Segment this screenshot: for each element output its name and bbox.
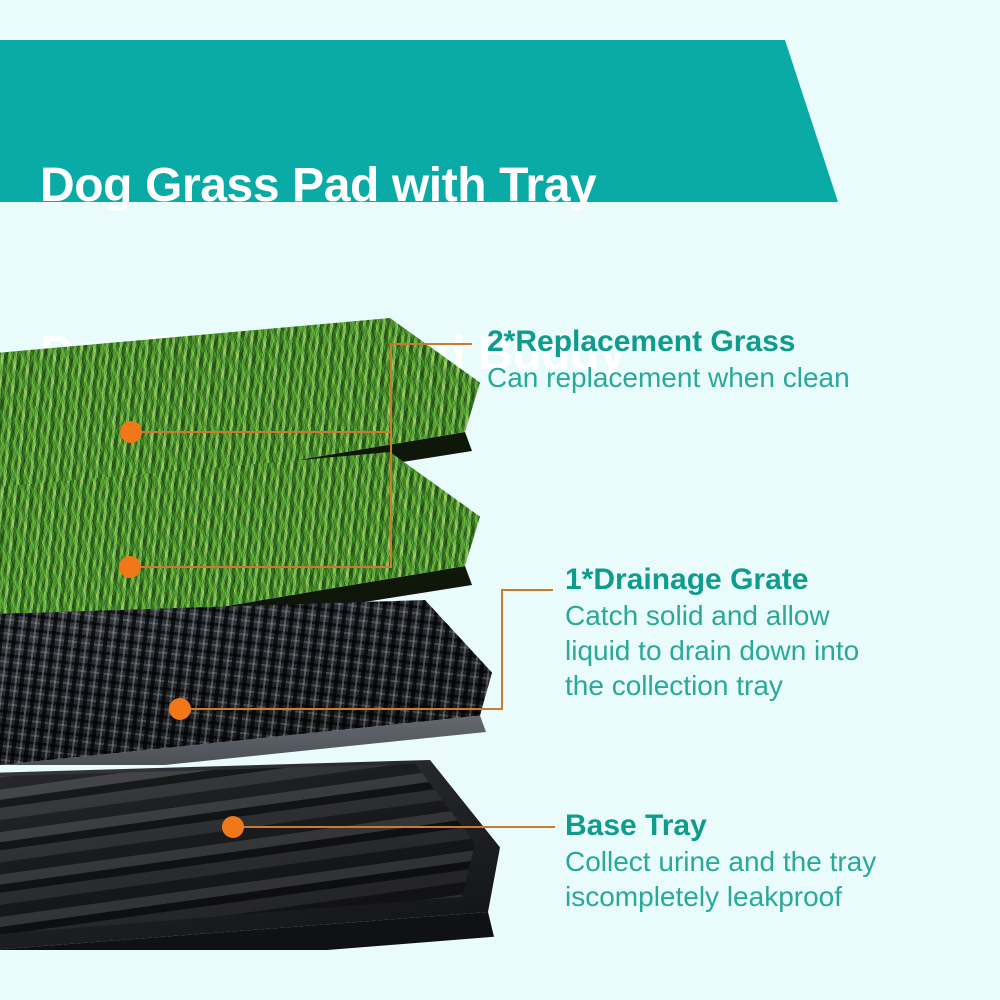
callout-drainage-grate-title: 1*Drainage Grate: [565, 562, 859, 598]
leader-line-grass-vertical: [390, 343, 392, 568]
marker-dot-grass-top: [120, 421, 142, 443]
leader-line-grass-top-horizontal: [131, 431, 392, 433]
leader-line-grate-to-text: [501, 589, 553, 591]
callout-drainage-grate-body: Catch solid and allow liquid to drain do…: [565, 598, 859, 703]
callout-base-tray-body: Collect urine and the tray iscompletely …: [565, 844, 876, 914]
leader-line-grass-to-text: [390, 343, 472, 345]
marker-dot-grate: [169, 698, 191, 720]
leader-line-tray-horizontal: [233, 826, 555, 828]
product-layer-stack: [0, 300, 560, 960]
callout-replacement-grass-body: Can replacement when clean: [487, 360, 850, 395]
callout-base-tray: Base Tray Collect urine and the tray isc…: [565, 808, 876, 914]
callout-replacement-grass: 2*Replacement Grass Can replacement when…: [487, 324, 850, 395]
callout-drainage-grate: 1*Drainage Grate Catch solid and allow l…: [565, 562, 859, 703]
callout-body-line: liquid to drain down into: [565, 633, 859, 668]
leader-line-grate-horizontal: [180, 708, 503, 710]
marker-dot-grass-bottom: [119, 556, 141, 578]
callout-body-line: iscompletely leakproof: [565, 879, 876, 914]
callout-base-tray-title: Base Tray: [565, 808, 876, 844]
callout-body-line: Can replacement when clean: [487, 360, 850, 395]
callout-body-line: Catch solid and allow: [565, 598, 859, 633]
callout-body-line: the collection tray: [565, 668, 859, 703]
leader-line-grass-bottom-horizontal: [130, 566, 392, 568]
product-infographic: Dog Grass Pad with Tray Dog Training Goo…: [0, 0, 1000, 1000]
leader-line-grate-vertical: [501, 589, 503, 710]
callout-body-line: Collect urine and the tray: [565, 844, 876, 879]
marker-dot-tray: [222, 816, 244, 838]
callout-replacement-grass-title: 2*Replacement Grass: [487, 324, 850, 360]
header-title-line-1: Dog Grass Pad with Tray: [40, 158, 800, 214]
